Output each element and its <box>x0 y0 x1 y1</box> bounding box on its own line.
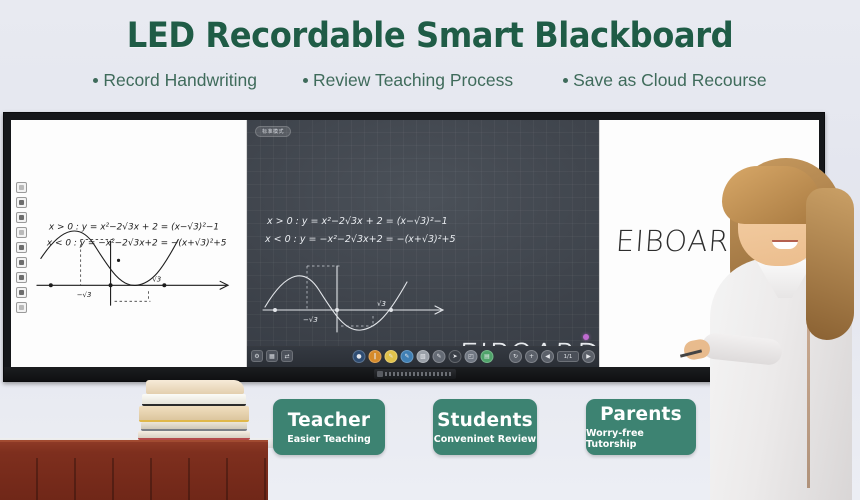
bullet-dot-icon <box>93 78 98 83</box>
bullet-dot-icon <box>303 78 308 83</box>
svg-text:x > 0 : y = x²−2√3x + 2 = (x−: x > 0 : y = x²−2√3x + 2 = (x−√3)²−1 <box>266 216 448 227</box>
book-item <box>146 380 244 394</box>
feature-bullet-1-label: Record Handwriting <box>103 70 257 91</box>
eraser-icon[interactable]: ▧ <box>417 350 430 363</box>
prev-page-icon[interactable]: ◀ <box>541 350 554 363</box>
badge-parents-subtitle: Worry-free Tutorship <box>586 428 696 450</box>
shape-icon[interactable] <box>16 242 27 253</box>
pen-icon[interactable]: ✎ <box>401 350 414 363</box>
close-icon[interactable] <box>16 302 27 313</box>
bezel-brand-text <box>385 372 453 376</box>
header-banner: LED Recordable Smart Blackboard Record H… <box>0 0 860 112</box>
presenter-hair-side <box>806 188 854 340</box>
select-icon[interactable] <box>16 272 27 283</box>
mode-badge[interactable]: 标准模式 <box>255 126 291 137</box>
feature-bullet-3: Save as Cloud Recourse <box>563 70 767 91</box>
add-page-icon[interactable]: + <box>525 350 538 363</box>
center-board-handwriting: x > 0 : y = x²−2√3x + 2 = (x−√3)²−1 x < … <box>247 120 599 368</box>
recording-indicator-dot[interactable] <box>583 334 589 340</box>
svg-text:x > 0 : y = x²−2√3x + 2 = (x−: x > 0 : y = x²−2√3x + 2 = (x−√3)²−1 <box>48 222 219 233</box>
brush-icon[interactable]: ✎ <box>385 350 398 363</box>
wooden-desk <box>0 440 268 500</box>
badge-teacher[interactable]: Teacher Easier Teaching <box>273 399 385 455</box>
bezel-brand-plate <box>374 369 456 379</box>
marker-icon[interactable]: ✎ <box>433 350 446 363</box>
highlighter-icon[interactable] <box>16 212 27 223</box>
feature-bullet-3-label: Save as Cloud Recourse <box>573 70 767 91</box>
book-stack <box>138 378 250 440</box>
grid-icon[interactable]: ▦ <box>266 350 278 362</box>
bezel-logo-icon <box>377 371 383 377</box>
pause-icon[interactable]: ‖ <box>369 350 382 363</box>
record-icon[interactable]: ● <box>353 350 366 363</box>
page-title: LED Recordable Smart Blackboard <box>34 16 825 56</box>
badge-teacher-title: Teacher <box>288 410 370 431</box>
panel-center-blackboard[interactable]: 标准模式 x > 0 : y = x²−2√3x + 2 = (x−√3)²−1 <box>247 120 599 368</box>
feature-bullet-2-label: Review Teaching Process <box>313 70 513 91</box>
svg-text:−√3: −√3 <box>77 291 92 299</box>
toolbar-left-group[interactable]: ⚙ ▦ ⇄ <box>251 350 293 362</box>
next-page-icon[interactable]: ▶ <box>582 350 595 363</box>
book-item <box>139 406 249 422</box>
badge-students-title: Students <box>437 410 533 431</box>
display-screen: x > 0 : y = x²−2√3x + 2 = (x−√3)²−1 x < … <box>11 120 819 368</box>
swap-icon[interactable]: ⇄ <box>281 350 293 362</box>
feature-bullet-1: Record Handwriting <box>93 70 257 91</box>
badge-teacher-subtitle: Easier Teaching <box>287 434 371 445</box>
toolbar-center-group[interactable]: ● ‖ ✎ ✎ ▧ ✎ ➤ ◰ ▤ <box>353 350 494 363</box>
svg-text:x < 0 : y = −x²−2√3x+2 = −(x+: x < 0 : y = −x²−2√3x+2 = −(x+√3)²+5 <box>264 234 456 245</box>
save-icon[interactable] <box>16 287 27 298</box>
toolbar-right-group[interactable]: ↻ + ◀ 1/1 ▶ <box>509 350 595 363</box>
feature-bullet-list: Record Handwriting Review Teaching Proce… <box>0 70 860 91</box>
screenshot-icon[interactable] <box>16 182 27 193</box>
audience-badge-group: Teacher Easier Teaching Students Conveni… <box>268 399 704 455</box>
eraser-icon[interactable] <box>16 227 27 238</box>
presenter-photo <box>700 140 860 500</box>
svg-text:−√3: −√3 <box>303 316 318 324</box>
book-item <box>141 422 247 431</box>
left-panel-toolbar[interactable] <box>16 182 27 313</box>
pen-icon[interactable] <box>16 197 27 208</box>
badge-students[interactable]: Students Conveninet Review <box>433 399 537 455</box>
book-item <box>138 431 250 440</box>
page-indicator: 1/1 <box>557 351 579 362</box>
cursor-icon[interactable]: ➤ <box>449 350 462 363</box>
svg-text:√3: √3 <box>152 275 161 283</box>
left-board-handwriting: x > 0 : y = x²−2√3x + 2 = (x−√3)²−1 x < … <box>11 120 246 367</box>
image-icon[interactable]: ◰ <box>465 350 478 363</box>
svg-text:√3: √3 <box>377 300 386 308</box>
feature-bullet-2: Review Teaching Process <box>303 70 513 91</box>
book-item <box>142 394 246 406</box>
badge-parents-title: Parents <box>600 404 682 425</box>
clipboard-icon[interactable]: ▤ <box>481 350 494 363</box>
panel-left-whiteboard[interactable]: x > 0 : y = x²−2√3x + 2 = (x−√3)²−1 x < … <box>11 120 247 368</box>
bullet-dot-icon <box>563 78 568 83</box>
badge-students-subtitle: Conveninet Review <box>434 434 536 445</box>
desk-panel-lines <box>0 458 268 500</box>
badge-parents[interactable]: Parents Worry-free Tutorship <box>586 399 696 455</box>
svg-text:x < 0 : y = −x²−2√3x+2 = −(x+: x < 0 : y = −x²−2√3x+2 = −(x+√3)²+5 <box>46 237 227 248</box>
fill-icon[interactable] <box>16 257 27 268</box>
refresh-icon[interactable]: ↻ <box>509 350 522 363</box>
center-panel-toolbar[interactable]: ⚙ ▦ ⇄ ● ‖ ✎ ✎ ▧ ✎ ➤ ◰ ▤ ↻ + <box>247 346 599 368</box>
settings-icon[interactable]: ⚙ <box>251 350 263 362</box>
